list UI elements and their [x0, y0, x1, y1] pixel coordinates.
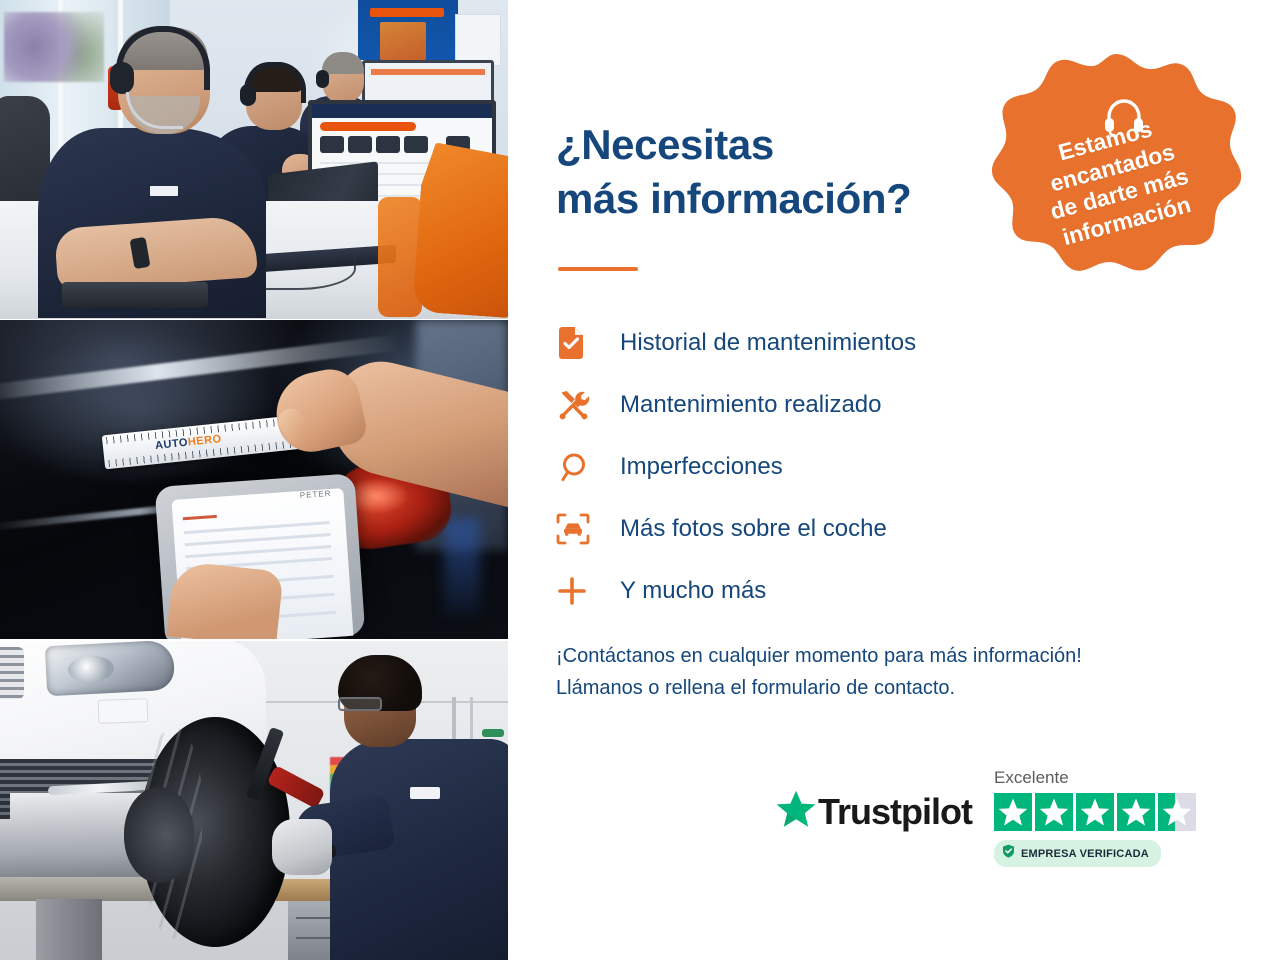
- tire-rim: [124, 787, 194, 883]
- promo-page: AUTOHERO PETER: [0, 0, 1280, 960]
- trustpilot-rating-label: Excelente: [994, 768, 1196, 788]
- agent-one-headset-cup: [110, 62, 134, 94]
- agent-three-headset: [316, 70, 329, 88]
- tablet-row: [184, 521, 330, 534]
- contact-line1: ¡Contáctanos en cualquier momento para m…: [556, 640, 1236, 672]
- shield-check-icon: [1002, 844, 1015, 863]
- car-inspection-ruler-photo: AUTOHERO PETER: [0, 320, 508, 639]
- workshop-green-fixture: [482, 729, 504, 737]
- feature-label: Más fotos sobre el coche: [600, 515, 887, 543]
- trustpilot-logo[interactable]: Trustpilot: [776, 790, 972, 833]
- page-title-line2: más información?: [556, 172, 976, 226]
- contact-text: ¡Contáctanos en cualquier momento para m…: [556, 640, 1236, 704]
- headset-icon: [1102, 96, 1146, 138]
- call-center-agents-photo: [0, 0, 508, 319]
- monitor-screen-navbar: [312, 104, 492, 118]
- trustpilot-wordmark: Trustpilot: [818, 791, 972, 833]
- background-blue-light: [444, 519, 480, 615]
- workshop-tire-mechanic-photo: [0, 641, 508, 960]
- tablet-row-heading: [183, 515, 217, 520]
- magnifier-icon: [556, 451, 600, 483]
- feature-item: Y mucho más: [556, 560, 1076, 622]
- trustpilot-rating: Excelente: [994, 768, 1196, 867]
- feature-label: Imperfecciones: [600, 453, 783, 481]
- photo-column: AUTOHERO PETER: [0, 0, 508, 960]
- verified-company-badge: EMPRESA VERIFICADA: [994, 840, 1161, 867]
- car-grille: [0, 647, 24, 699]
- page-title: ¿Necesitas más información?: [556, 118, 976, 226]
- monitor-screen-car-card: [348, 136, 372, 153]
- document-check-icon: [556, 326, 600, 360]
- feature-item: Mantenimiento realizado: [556, 374, 1076, 436]
- car-frame-icon: [556, 513, 600, 545]
- plus-icon: [556, 575, 600, 607]
- outdoor-trees: [4, 12, 104, 82]
- feature-item: Más fotos sobre el coche: [556, 498, 1076, 560]
- trustpilot-star-icon: [776, 790, 816, 833]
- trustpilot-stars: [994, 793, 1196, 831]
- feature-item: Imperfecciones: [556, 436, 1076, 498]
- rating-star-filled: [1076, 793, 1114, 831]
- car-taillight-glow: [352, 478, 410, 514]
- mechanic-polo-logo: [410, 787, 440, 799]
- rating-star-filled: [1117, 793, 1155, 831]
- verified-company-label: EMPRESA VERIFICADA: [1021, 848, 1149, 860]
- desk-tablet: [62, 282, 208, 308]
- support-badge: Estamos encantados de darte más informac…: [990, 48, 1242, 298]
- orange-chair-back: [378, 197, 422, 317]
- title-divider: [558, 267, 638, 271]
- page-title-line1: ¿Necesitas: [556, 121, 774, 168]
- rating-star-partial: [1158, 793, 1196, 831]
- feature-label: Y mucho más: [600, 577, 766, 605]
- inspector-hand-holding-tablet: [166, 560, 283, 639]
- tablet-row: [185, 533, 331, 546]
- mechanic-glove: [272, 819, 332, 875]
- car-plate-area: [98, 698, 149, 724]
- contact-line2: Llámanos o rellena el formulario de cont…: [556, 672, 1236, 704]
- car-lift-post: [36, 899, 102, 960]
- content-panel: ¿Necesitas más información? Estamos enca…: [508, 0, 1280, 960]
- feature-label: Historial de mantenimientos: [600, 329, 916, 357]
- wall-poster-small: [455, 14, 501, 66]
- feature-item: Historial de mantenimientos: [556, 312, 1076, 374]
- tools-icon: [556, 388, 600, 422]
- agent-two-headset-cup: [240, 84, 256, 106]
- feature-list: Historial de mantenimientos M: [556, 312, 1076, 622]
- monitor-screen-searchbar: [320, 122, 416, 131]
- mechanic-glasses: [338, 697, 382, 711]
- feature-label: Mantenimiento realizado: [600, 391, 881, 419]
- car-headlight: [45, 641, 175, 696]
- rating-star-filled: [1035, 793, 1073, 831]
- monitor-screen-car-card: [320, 136, 344, 153]
- trustpilot-widget[interactable]: Trustpilot Excelente: [776, 768, 1196, 867]
- monitor-screen-car-card: [376, 136, 400, 153]
- wall-poster: [380, 22, 426, 60]
- monitor-screen-car-card: [404, 136, 428, 153]
- agent-one-polo-logo: [150, 186, 178, 196]
- rating-star-filled: [994, 793, 1032, 831]
- tablet-row: [185, 545, 331, 558]
